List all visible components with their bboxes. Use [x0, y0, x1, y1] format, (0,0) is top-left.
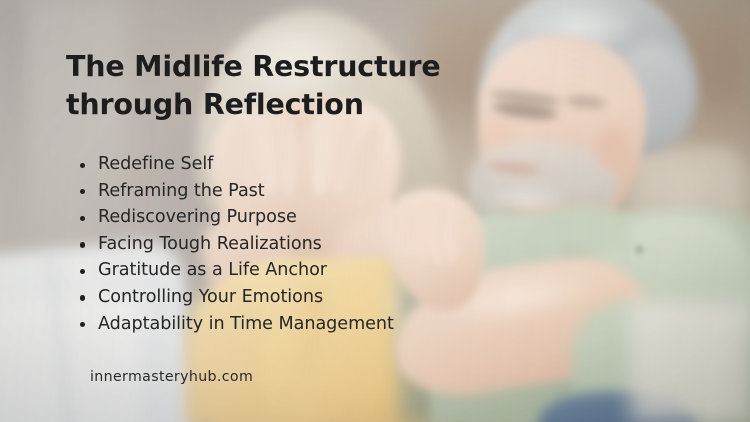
list-item: Facing Tough Realizations — [76, 231, 394, 258]
title-line-2: through Reflection — [66, 86, 486, 124]
website-url: innermasteryhub.com — [90, 369, 253, 385]
list-item: Reframing the Past — [76, 178, 394, 205]
list-item: Adaptability in Time Management — [76, 311, 394, 338]
list-item: Rediscovering Purpose — [76, 204, 394, 231]
slide-canvas: The Midlife Restructure through Reflecti… — [0, 0, 750, 422]
list-item: Gratitude as a Life Anchor — [76, 257, 394, 284]
topic-list: Redefine Self Reframing the Past Redisco… — [76, 151, 394, 337]
slide-title: The Midlife Restructure through Reflecti… — [66, 48, 486, 124]
list-item: Controlling Your Emotions — [76, 284, 394, 311]
title-line-1: The Midlife Restructure — [66, 50, 441, 83]
text-overlay: The Midlife Restructure through Reflecti… — [0, 0, 750, 422]
list-item: Redefine Self — [76, 151, 394, 178]
